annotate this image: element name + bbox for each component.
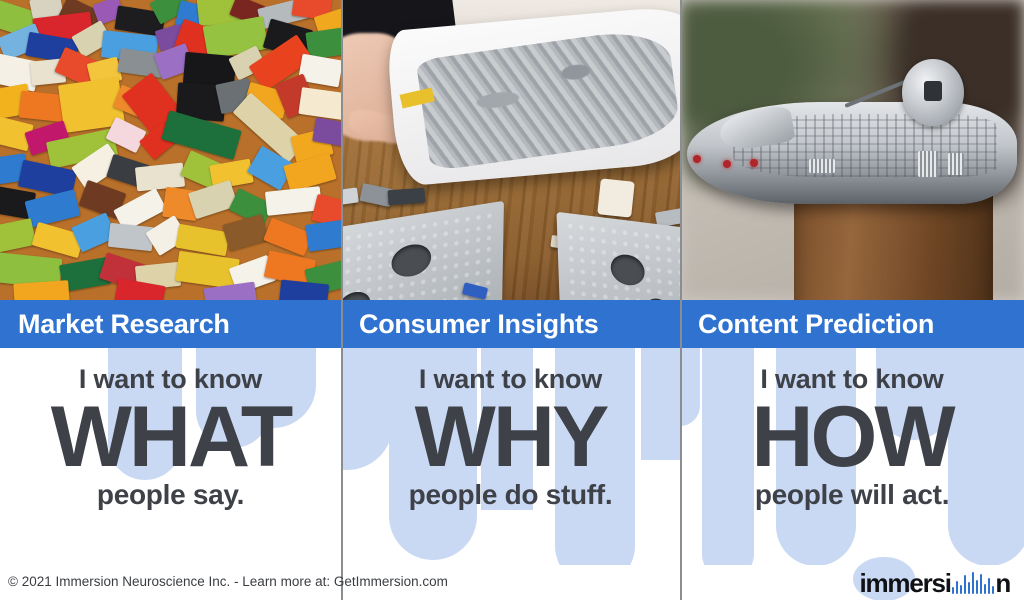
photo-lego-instructions [341,0,680,300]
panel-consumer-insights: Consumer Insights I want to know WHY peo… [341,0,680,565]
ship-vent [918,151,938,178]
ship-vent [948,153,965,175]
ship-light [750,159,758,167]
copyright-text: © 2021 Immersion Neuroscience Inc. - Lea… [8,574,448,589]
logo-text-right: n [995,570,1010,596]
photo-lego-brick-pile [0,0,341,300]
message-consumer-insights: I want to know WHY people do stuff. [341,348,680,565]
message-text: I want to know WHY people do stuff. [341,366,680,509]
banner-title: Consumer Insights [341,311,598,338]
message-line-big: HOW [680,397,1024,479]
message-line-bottom: people will act. [680,481,1024,509]
ship-vent [809,159,835,173]
panel-columns: Market Research I want to know WHAT peop… [0,0,1024,565]
instruction-booklet [386,5,680,187]
message-line-big: WHAT [0,397,341,479]
infographic-board: Market Research I want to know WHAT peop… [0,0,1024,600]
panel-content-prediction: Content Prediction I want to know HOW pe… [680,0,1024,565]
waveform-icon [952,572,995,594]
message-line-bottom: people do stuff. [341,481,680,509]
panel-market-research: Market Research I want to know WHAT peop… [0,0,341,565]
loose-brick [388,188,426,206]
table-scene-image [341,0,680,300]
loose-brick [597,178,634,217]
ship-light [723,160,731,168]
banner-title: Market Research [0,311,230,338]
column-divider [680,0,682,600]
assembled-plate-right [556,212,680,300]
message-text: I want to know WHAT people say. [0,366,341,509]
message-line-big: WHY [341,397,680,479]
brick-pile-image [0,0,341,300]
booklet-artwork [416,25,680,171]
immersion-logo[interactable]: immersi n [859,567,1010,599]
photo-finished-spaceship [680,0,1024,300]
footer: © 2021 Immersion Neuroscience Inc. - Lea… [0,565,1024,600]
message-text: I want to know HOW people will act. [680,366,1024,509]
spaceship-scene-image [680,0,1024,300]
banner-market-research: Market Research [0,300,341,348]
message-market-research: I want to know WHAT people say. [0,348,341,565]
ship-light [693,155,701,163]
logo-text-left: immersi [859,570,950,596]
millennium-falcon-model [687,102,1017,204]
message-content-prediction: I want to know HOW people will act. [680,348,1024,565]
banner-consumer-insights: Consumer Insights [341,300,680,348]
column-divider [341,0,343,600]
banner-content-prediction: Content Prediction [680,300,1024,348]
banner-title: Content Prediction [680,311,934,338]
